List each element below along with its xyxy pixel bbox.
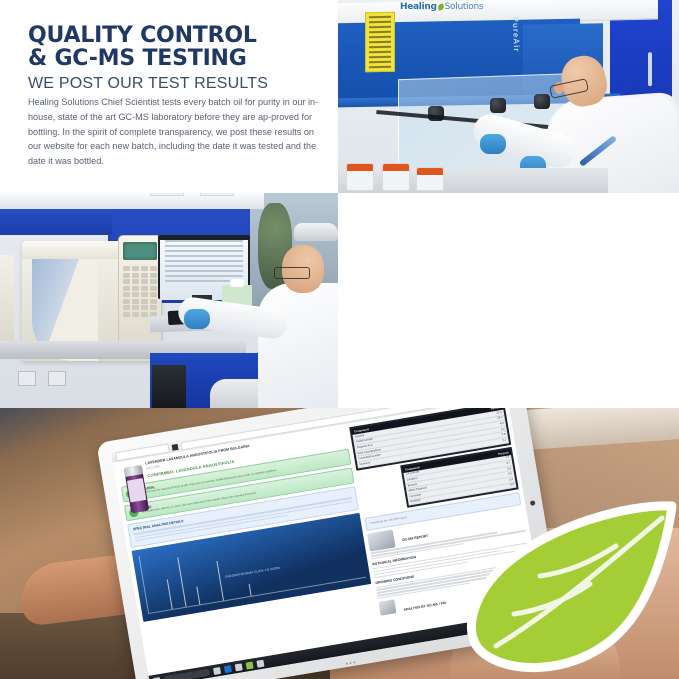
- desktop-tower: [152, 365, 186, 408]
- report-thumbnail: [379, 600, 397, 616]
- spectral-analysis-panel: SPECTRAL ANALYSIS JUST THE FACTS At Heal…: [338, 193, 679, 408]
- taskbar-browser-icon[interactable]: [224, 665, 232, 673]
- car-outside-window: [294, 223, 338, 241]
- quality-control-panel: QUALITY CONTROL & GC-MS TESTING WE POST …: [0, 0, 338, 193]
- lab-bench: [338, 168, 608, 193]
- leaf-logo: [466, 498, 679, 679]
- reagent-jar: [416, 167, 444, 191]
- leaf-icon: [437, 3, 445, 11]
- shelf-box: [200, 193, 234, 196]
- taskbar-app-icon[interactable]: [256, 659, 264, 667]
- eyeglasses-icon: [274, 267, 310, 279]
- photo-gcms-instrument: [0, 193, 338, 408]
- taskbar-app-icon[interactable]: [235, 663, 243, 671]
- photo-lab-fume-hood: HealingSolutions PureAir: [338, 0, 679, 193]
- marketing-infographic: QUALITY CONTROL & GC-MS TESTING WE POST …: [0, 0, 679, 679]
- shelf-box: [150, 193, 184, 196]
- power-outlet: [18, 371, 36, 386]
- chart-y-axis: [139, 556, 149, 613]
- tablet-brand-label: ●●●: [345, 659, 357, 666]
- hood-port-knob: [490, 98, 506, 113]
- instrument-display: [123, 242, 157, 260]
- reagent-jar: [382, 163, 410, 191]
- quality-control-heading-line2: & GC-MS TESTING: [28, 47, 320, 70]
- quality-control-text-block: QUALITY CONTROL & GC-MS TESTING WE POST …: [28, 24, 320, 169]
- hood-brand-logo: HealingSolutions: [400, 2, 483, 12]
- hood-brand-sub: Solutions: [445, 2, 484, 12]
- browser-favicon-icon: [172, 443, 179, 450]
- gcms-scene: [0, 193, 338, 408]
- bottle-label: [127, 478, 146, 502]
- report-left-column: LAVENDER LAVANDULA ANGUSTIFOLIA FROM BUL…: [117, 428, 379, 671]
- taskbar-app-icon[interactable]: [213, 666, 221, 674]
- power-outlet: [48, 371, 66, 386]
- bottle-cap: [124, 465, 143, 477]
- quality-control-heading-line1: QUALITY CONTROL: [28, 24, 320, 47]
- taskbar-app-icon[interactable]: [245, 661, 253, 669]
- quality-control-subheading: WE POST OUR TEST RESULTS: [28, 75, 320, 93]
- instrument-keypad: [118, 235, 162, 352]
- fume-hood-scene: HealingSolutions PureAir: [338, 0, 679, 193]
- blue-glove: [480, 134, 506, 154]
- hazard-placard-icon: [365, 12, 395, 73]
- quality-control-body: Healing Solutions Chief Scientist tests …: [28, 95, 320, 169]
- report-thumbnail: [367, 529, 396, 551]
- section-heading: GC-MS REPORT: [402, 534, 429, 542]
- hood-brand-main: Healing: [400, 2, 437, 12]
- secondary-instrument: [0, 255, 14, 345]
- chart-caption: CHROMATOGRAM CLICK TO ZOOM: [225, 566, 281, 580]
- reagent-jar: [346, 163, 374, 191]
- lab-coat: [258, 283, 338, 408]
- scientist-at-computer: [252, 245, 338, 408]
- hood-model-label: PureAir: [511, 16, 521, 52]
- blue-glove: [184, 309, 210, 329]
- keypad-keys[interactable]: [123, 266, 157, 317]
- footer-heading: ANALYSIS BY GC-MS / FID: [403, 601, 446, 612]
